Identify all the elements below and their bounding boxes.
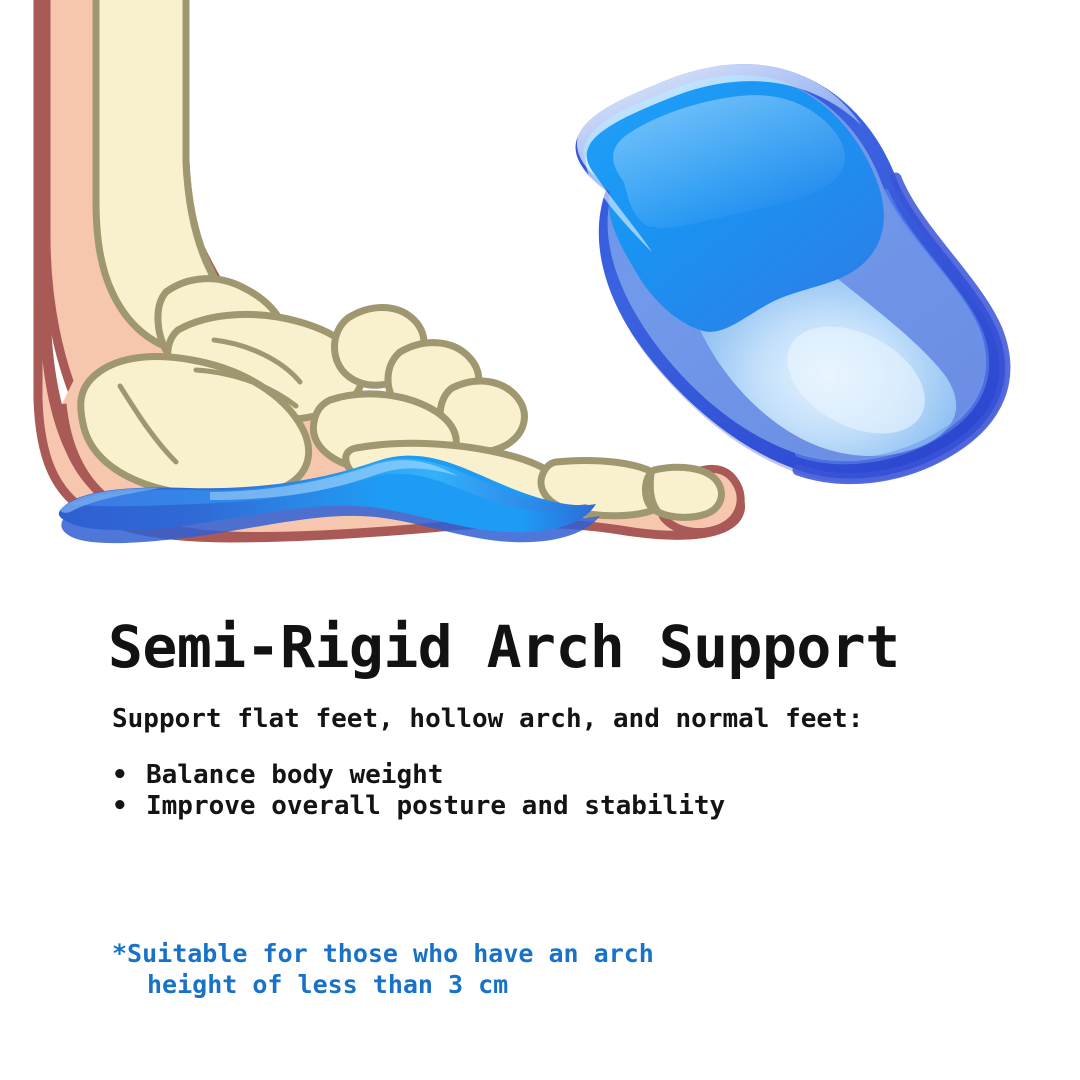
bullet-icon: •	[112, 760, 128, 791]
product-text-block: Semi-Rigid Arch Support Support flat fee…	[0, 600, 1080, 1080]
footnote-line-2: height of less than 3 cm	[112, 969, 654, 1000]
list-item: • Improve overall posture and stability	[110, 791, 725, 822]
product-illustration	[0, 0, 1080, 600]
product-subtitle: Support flat feet, hollow arch, and norm…	[112, 706, 863, 732]
suitability-footnote: *Suitable for those who have an arch hei…	[112, 938, 654, 1000]
bullet-icon: •	[112, 791, 128, 822]
benefits-list: • Balance body weight • Improve overall …	[110, 760, 725, 822]
page-title: Semi-Rigid Arch Support	[108, 618, 900, 676]
list-item-label: Improve overall posture and stability	[146, 791, 725, 821]
list-item: • Balance body weight	[110, 760, 725, 791]
footnote-line-1: *Suitable for those who have an arch	[112, 939, 654, 968]
insole-3d-heel-cup	[576, 64, 1007, 482]
product-infographic: Semi-Rigid Arch Support Support flat fee…	[0, 0, 1080, 1080]
list-item-label: Balance body weight	[146, 760, 443, 790]
